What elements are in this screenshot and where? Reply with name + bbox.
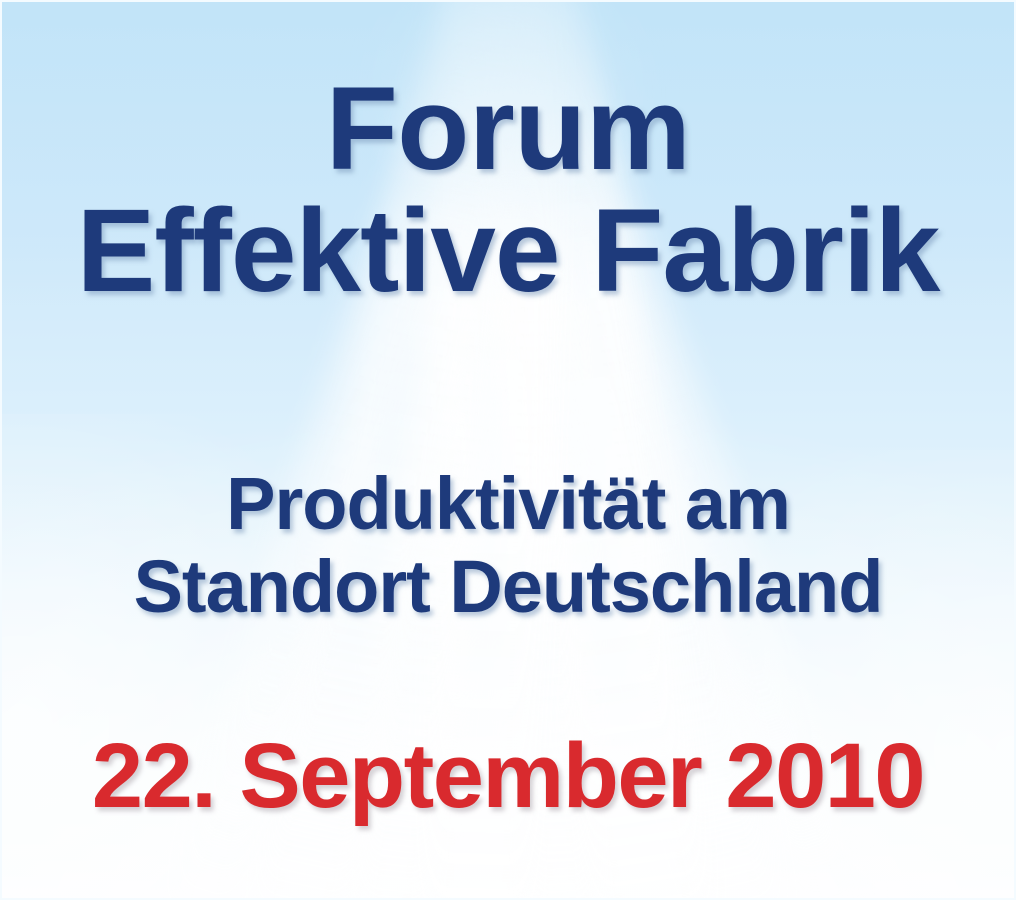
poster-title-line-2: Effektive Fabrik — [2, 192, 1014, 310]
poster-subtitle-line-2: Standort Deutschland — [2, 550, 1014, 624]
poster-text-content: Forum Effektive Fabrik Produktivität am … — [2, 2, 1014, 898]
poster-subtitle-line-1: Produktivität am — [2, 467, 1014, 541]
event-poster: Forum Effektive Fabrik Produktivität am … — [0, 0, 1016, 900]
poster-event-date: 22. September 2010 — [2, 730, 1014, 822]
poster-title-line-1: Forum — [2, 70, 1014, 188]
